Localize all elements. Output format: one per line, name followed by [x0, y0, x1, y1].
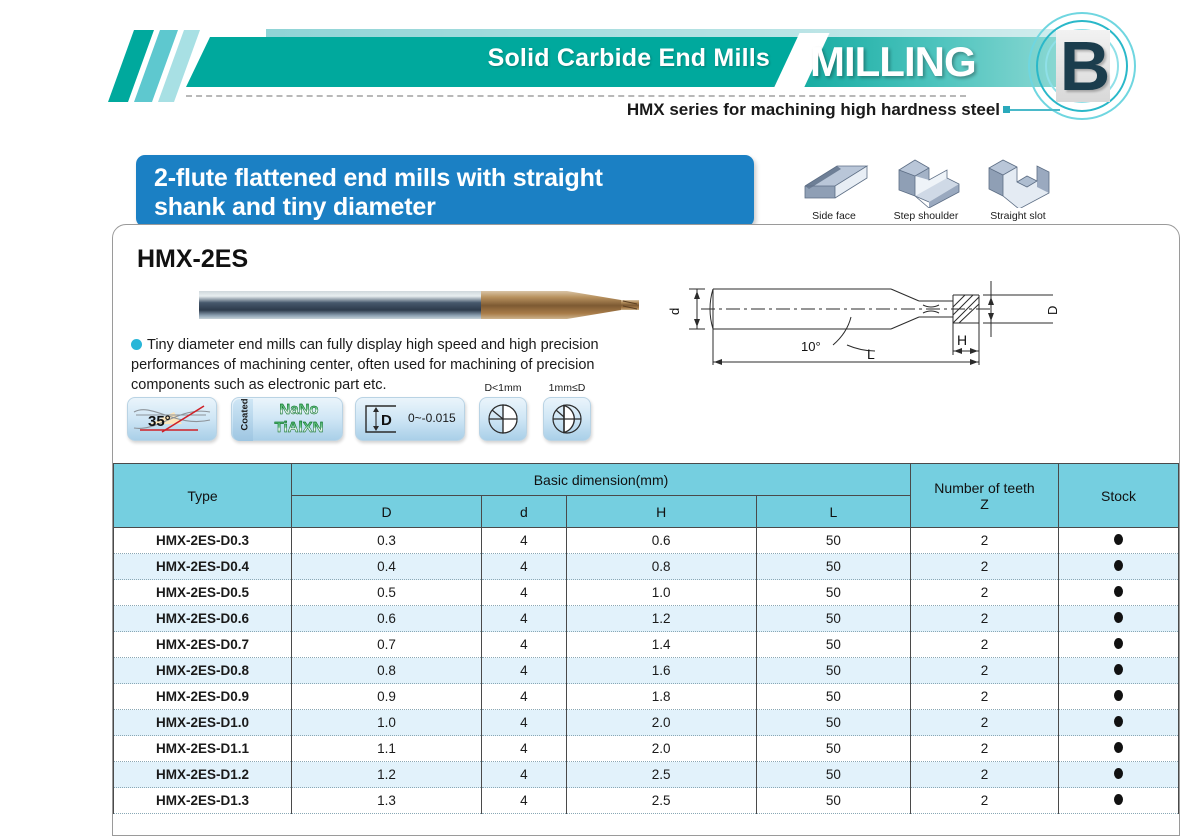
type-cell: HMX-2ES-D0.9: [114, 684, 292, 710]
Z-cell: 2: [911, 632, 1059, 658]
stock-cell: [1059, 580, 1179, 606]
d-cell: 4: [482, 736, 567, 762]
geo-caption-large: 1mm≤D: [544, 382, 590, 394]
D-cell: 0.5: [292, 580, 482, 606]
end-geometry-badge-large: 1mm≤D: [543, 397, 591, 441]
col-L: L: [756, 496, 910, 528]
d-cell: 4: [482, 554, 567, 580]
operation-label: Step shoulder: [880, 210, 972, 222]
coated-label: Coated: [240, 394, 251, 436]
operation-step-shoulder: Step shoulder: [880, 152, 972, 222]
stock-available-icon: [1114, 768, 1123, 779]
L-cell: 50: [756, 788, 910, 814]
end-view-small-icon: [480, 398, 526, 440]
d-cell: 4: [482, 788, 567, 814]
L-cell: 50: [756, 606, 910, 632]
H-cell: 1.0: [566, 580, 756, 606]
type-cell: HMX-2ES-D1.0: [114, 710, 292, 736]
type-cell: HMX-2ES-D0.6: [114, 606, 292, 632]
d-cell: 4: [482, 762, 567, 788]
type-cell: HMX-2ES-D0.7: [114, 632, 292, 658]
operation-side-face: Side face: [788, 152, 880, 222]
H-cell: 0.8: [566, 554, 756, 580]
stock-cell: [1059, 762, 1179, 788]
bullet-icon: [131, 339, 142, 350]
stock-cell: [1059, 632, 1179, 658]
d-cell: 4: [482, 580, 567, 606]
H-cell: 2.5: [566, 788, 756, 814]
D-cell: 0.9: [292, 684, 482, 710]
L-cell: 50: [756, 762, 910, 788]
stock-available-icon: [1114, 794, 1123, 805]
table-row: HMX-2ES-D0.40.440.8502: [114, 554, 1179, 580]
L-cell: 50: [756, 580, 910, 606]
coating-line1: NaNo: [256, 401, 342, 419]
H-cell: 0.6: [566, 528, 756, 554]
Z-cell: 2: [911, 606, 1059, 632]
diameter-tolerance-icon: D: [356, 398, 404, 440]
feature-badges: 35° Coated NaNo TiAlXN D 0~-0.015 D<1m: [127, 397, 607, 449]
col-type: Type: [114, 464, 292, 528]
specification-table: Type Basic dimension(mm) Number of teeth…: [113, 463, 1179, 814]
page-header: Solid Carbide End Mills MILLING B HMX se…: [0, 0, 1186, 132]
Z-cell: 2: [911, 580, 1059, 606]
type-cell: HMX-2ES-D1.3: [114, 788, 292, 814]
stock-available-icon: [1114, 664, 1123, 675]
svg-text:D: D: [381, 412, 392, 429]
H-cell: 2.0: [566, 736, 756, 762]
L-cell: 50: [756, 658, 910, 684]
table-body: HMX-2ES-D0.30.340.6502HMX-2ES-D0.40.440.…: [114, 528, 1179, 814]
stock-cell: [1059, 684, 1179, 710]
L-cell: 50: [756, 528, 910, 554]
header-dashed-rule: [186, 95, 966, 97]
D-cell: 0.4: [292, 554, 482, 580]
L-cell: 50: [756, 710, 910, 736]
coating-strip: Coated: [233, 399, 253, 441]
type-cell: HMX-2ES-D1.1: [114, 736, 292, 762]
helix-angle-badge: 35°: [127, 397, 217, 441]
product-title-line1: 2-flute flattened end mills with straigh…: [154, 164, 754, 193]
Z-cell: 2: [911, 710, 1059, 736]
stock-available-icon: [1114, 716, 1123, 727]
table-row: HMX-2ES-D1.11.142.0502: [114, 736, 1179, 762]
D-cell: 0.6: [292, 606, 482, 632]
end-mill-photo: [191, 285, 651, 325]
product-model-name: HMX-2ES: [137, 245, 248, 274]
table-row: HMX-2ES-D0.70.741.4502: [114, 632, 1179, 658]
table-header-row-1: Type Basic dimension(mm) Number of teeth…: [114, 464, 1179, 496]
type-cell: HMX-2ES-D0.4: [114, 554, 292, 580]
header-title: Solid Carbide End Mills: [300, 44, 770, 73]
table-row: HMX-2ES-D1.31.342.5502: [114, 788, 1179, 814]
stock-cell: [1059, 788, 1179, 814]
d-cell: 4: [482, 684, 567, 710]
stock-cell: [1059, 658, 1179, 684]
dim-D: D: [1045, 306, 1060, 315]
D-cell: 0.7: [292, 632, 482, 658]
coating-badge: Coated NaNo TiAlXN: [231, 397, 343, 441]
d-cell: 4: [482, 658, 567, 684]
table-row: HMX-2ES-D0.30.340.6502: [114, 528, 1179, 554]
type-cell: HMX-2ES-D0.8: [114, 658, 292, 684]
stock-available-icon: [1114, 638, 1123, 649]
type-cell: HMX-2ES-D0.3: [114, 528, 292, 554]
stock-cell: [1059, 710, 1179, 736]
D-cell: 0.3: [292, 528, 482, 554]
col-teeth-line1: Number of teeth: [911, 480, 1058, 496]
operation-icons: Side face Step shoulder Straight slot: [788, 152, 1068, 230]
table-head: Type Basic dimension(mm) Number of teeth…: [114, 464, 1179, 528]
dim-d: d: [667, 308, 682, 315]
D-cell: 1.1: [292, 736, 482, 762]
table-row: HMX-2ES-D0.90.941.8502: [114, 684, 1179, 710]
table-row: HMX-2ES-D0.50.541.0502: [114, 580, 1179, 606]
D-cell: 0.8: [292, 658, 482, 684]
stock-available-icon: [1114, 560, 1123, 571]
product-title-line2: shank and tiny diameter: [154, 193, 754, 222]
svg-text:35°: 35°: [148, 413, 171, 430]
col-d: d: [482, 496, 567, 528]
D-cell: 1.3: [292, 788, 482, 814]
tolerance-badge: D 0~-0.015: [355, 397, 465, 441]
stock-cell: [1059, 528, 1179, 554]
L-cell: 50: [756, 684, 910, 710]
Z-cell: 2: [911, 736, 1059, 762]
end-view-large-icon: [544, 398, 590, 440]
tolerance-value: 0~-0.015: [408, 411, 456, 425]
product-description: Tiny diameter end mills can fully displa…: [131, 337, 599, 393]
d-cell: 4: [482, 606, 567, 632]
stock-available-icon: [1114, 534, 1123, 545]
D-cell: 1.2: [292, 762, 482, 788]
coating-name: NaNo TiAlXN: [256, 401, 342, 437]
col-D: D: [292, 496, 482, 528]
product-title-banner: 2-flute flattened end mills with straigh…: [136, 155, 754, 227]
stock-cell: [1059, 736, 1179, 762]
header-subtitle-marker: [1003, 106, 1010, 113]
header-subtitle-leader-line: [1008, 109, 1060, 111]
coating-line2: TiAlXN: [256, 419, 342, 437]
d-cell: 4: [482, 710, 567, 736]
type-cell: HMX-2ES-D1.2: [114, 762, 292, 788]
side-face-icon: [797, 152, 871, 208]
product-description-block: Tiny diameter end mills can fully displa…: [131, 335, 676, 395]
header-subtitle: HMX series for machining high hardness s…: [300, 100, 1000, 120]
col-basic-dimension: Basic dimension(mm): [292, 464, 911, 496]
step-shoulder-icon: [889, 152, 963, 208]
H-cell: 2.5: [566, 762, 756, 788]
col-teeth: Number of teeth Z: [911, 464, 1059, 528]
Z-cell: 2: [911, 684, 1059, 710]
header-section-word: MILLING: [810, 38, 976, 86]
H-cell: 1.4: [566, 632, 756, 658]
L-cell: 50: [756, 554, 910, 580]
operation-label: Side face: [788, 210, 880, 222]
stock-available-icon: [1114, 690, 1123, 701]
table-row: HMX-2ES-D1.21.242.5502: [114, 762, 1179, 788]
D-cell: 1.0: [292, 710, 482, 736]
col-H: H: [566, 496, 756, 528]
technical-drawing: d D H L 10°: [661, 259, 1081, 371]
stock-cell: [1059, 606, 1179, 632]
H-cell: 1.2: [566, 606, 756, 632]
H-cell: 1.8: [566, 684, 756, 710]
H-cell: 1.6: [566, 658, 756, 684]
L-cell: 50: [756, 736, 910, 762]
Z-cell: 2: [911, 788, 1059, 814]
table-row: HMX-2ES-D0.80.841.6502: [114, 658, 1179, 684]
Z-cell: 2: [911, 554, 1059, 580]
end-geometry-badge-small: D<1mm: [479, 397, 527, 441]
dim-angle: 10°: [801, 339, 821, 354]
geo-caption-small: D<1mm: [480, 382, 526, 394]
Z-cell: 2: [911, 658, 1059, 684]
H-cell: 2.0: [566, 710, 756, 736]
stock-available-icon: [1114, 586, 1123, 597]
operation-label: Straight slot: [972, 210, 1064, 222]
dim-H: H: [957, 332, 967, 348]
stock-cell: [1059, 554, 1179, 580]
logo-letter: B: [1056, 28, 1114, 106]
operation-straight-slot: Straight slot: [972, 152, 1064, 222]
col-teeth-line2: Z: [911, 496, 1058, 512]
d-cell: 4: [482, 632, 567, 658]
dim-L: L: [867, 346, 875, 362]
stock-available-icon: [1114, 742, 1123, 753]
straight-slot-icon: [981, 152, 1055, 208]
Z-cell: 2: [911, 762, 1059, 788]
type-cell: HMX-2ES-D0.5: [114, 580, 292, 606]
d-cell: 4: [482, 528, 567, 554]
section-letter-logo: B: [1022, 6, 1142, 126]
table-row: HMX-2ES-D1.01.042.0502: [114, 710, 1179, 736]
col-stock: Stock: [1059, 464, 1179, 528]
Z-cell: 2: [911, 528, 1059, 554]
stock-available-icon: [1114, 612, 1123, 623]
L-cell: 50: [756, 632, 910, 658]
helix-angle-icon: 35°: [128, 398, 216, 440]
product-card: HMX-2ES Tiny diam: [112, 224, 1180, 836]
table-row: HMX-2ES-D0.60.641.2502: [114, 606, 1179, 632]
